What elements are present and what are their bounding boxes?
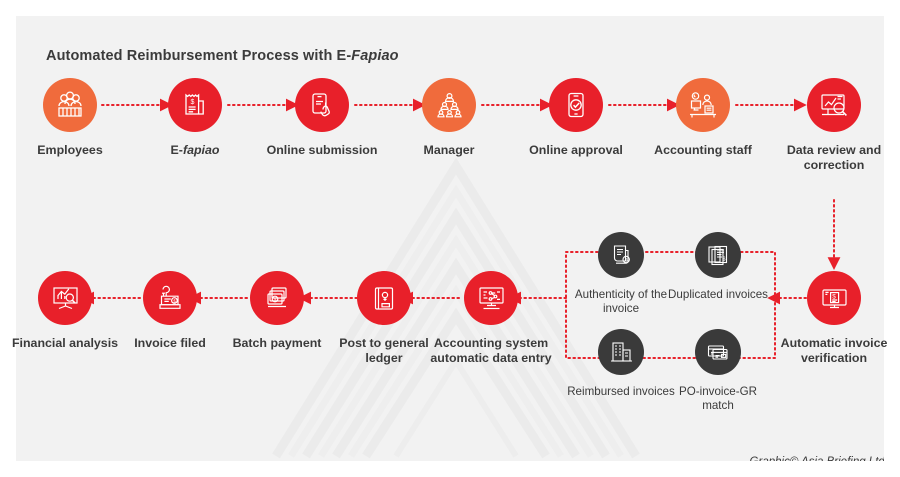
flow-label-invoice-filed: Invoice filed [111, 336, 229, 351]
flow-label-efapiao: E-fapiao [136, 143, 254, 158]
accountant-desk-icon [676, 78, 730, 132]
computer-data-icon [464, 271, 518, 325]
invoice-file-icon: $ [143, 271, 197, 325]
flow-label-accounting-system-entry: Accounting system automatic data entry [427, 336, 555, 365]
svg-text:$: $ [191, 99, 195, 106]
flow-label-batch-payment: Batch payment [218, 336, 336, 351]
credit-line: Graphic© Asia Briefing Ltd. [16, 456, 884, 461]
duplicate-papers-icon: $ [695, 232, 741, 278]
title-prefix: Automated Reimbursement Process with E- [46, 48, 351, 64]
flow-label-efapiao-italic: fapiao [183, 143, 220, 157]
page-title: Automated Reimbursement Process with E-F… [46, 48, 399, 64]
flow-label-data-review: Data review and correction [775, 143, 893, 172]
building-records-icon [598, 329, 644, 375]
svg-text:$: $ [274, 297, 277, 303]
flow-label-post-general-ledger: Post to general ledger [325, 336, 443, 365]
mobile-check-icon [549, 78, 603, 132]
check-label-reimbursed: Reimbursed invoices [567, 385, 675, 399]
flow-label-accounting-staff: Accounting staff [644, 143, 762, 158]
invoice-scroll-icon: $ [598, 232, 644, 278]
svg-text:$: $ [723, 256, 726, 262]
flow-label-online-approval: Online approval [517, 143, 635, 158]
ledger-book-icon [357, 271, 411, 325]
mobile-tap-icon [295, 78, 349, 132]
title-italic: Fapiao [351, 48, 398, 64]
flow-label-automatic-verification: Automatic invoice verification [775, 336, 893, 365]
infographic-canvas: Automated Reimbursement Process with E-F… [0, 0, 900, 477]
flow-label-employees: Employees [11, 143, 129, 158]
svg-text:$: $ [625, 257, 628, 262]
check-label-authenticity: Authenticity of the invoice [567, 288, 675, 315]
receipt-icon: $ [168, 78, 222, 132]
data-review-icon [807, 78, 861, 132]
stacked-bills-icon: $ [250, 271, 304, 325]
chart-analysis-icon [38, 271, 92, 325]
flow-label-online-submission: Online submission [263, 143, 381, 158]
employees-icon [43, 78, 97, 132]
card-match-icon [695, 329, 741, 375]
flow-label-manager: Manager [390, 143, 508, 158]
flow-label-financial-analysis: Financial analysis [6, 336, 124, 351]
svg-text:$: $ [173, 298, 176, 303]
org-hierarchy-icon [422, 78, 476, 132]
monitor-invoice-icon: $ [807, 271, 861, 325]
check-label-duplicated: Duplicated invoices [664, 288, 772, 302]
check-label-po-match: PO-invoice-GR match [664, 385, 772, 412]
